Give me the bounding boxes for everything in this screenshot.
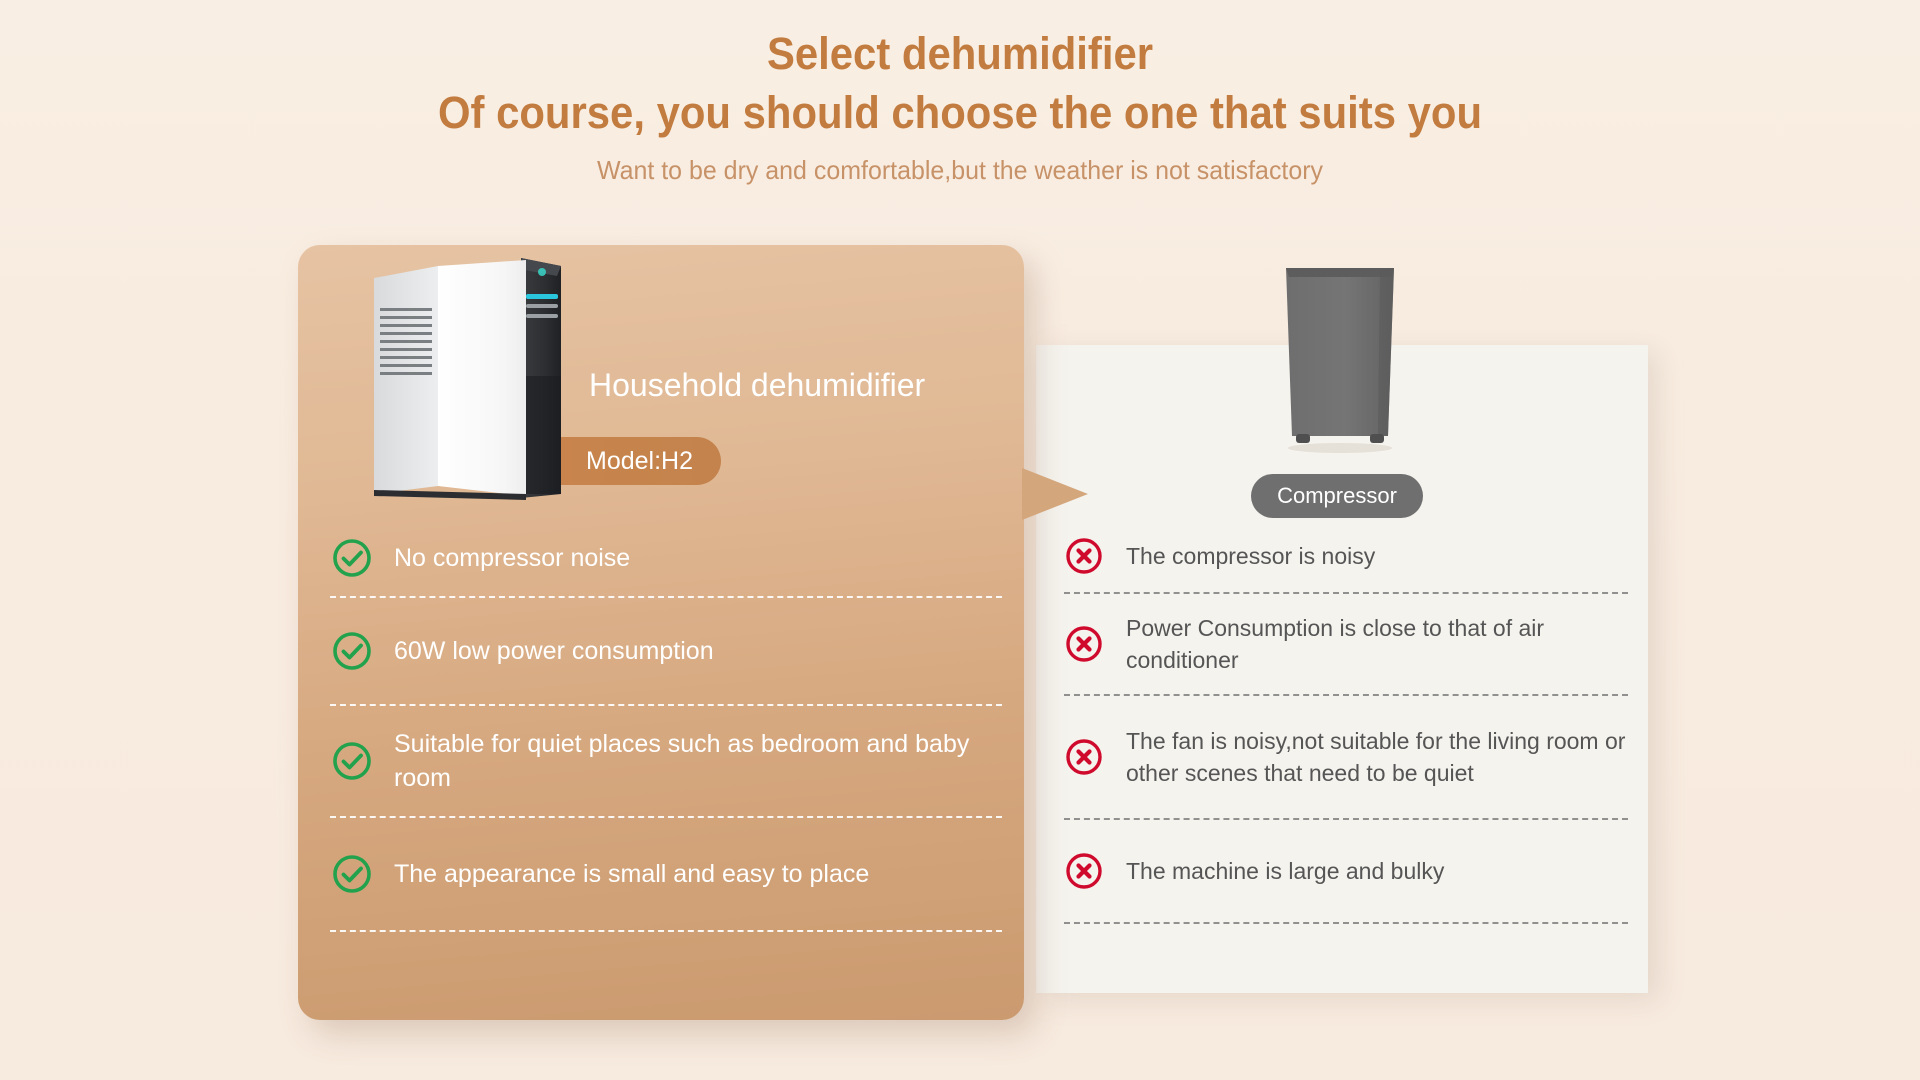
header: Select dehumidifier Of course, you shoul… <box>0 0 1920 190</box>
page-subtitle: Want to be dry and comfortable,but the w… <box>38 150 1881 190</box>
drawback-text: Power Consumption is close to that of ai… <box>1126 612 1628 676</box>
check-circle-icon <box>330 852 374 896</box>
drawback-text: The fan is noisy,not suitable for the li… <box>1126 725 1628 789</box>
list-item: The appearance is small and easy to plac… <box>330 818 1002 930</box>
feature-list: No compressor noise 60W low power consum… <box>330 520 1002 932</box>
drawback-text: The compressor is noisy <box>1126 540 1375 572</box>
page-title-line-2: Of course, you should choose the one tha… <box>67 82 1853 144</box>
list-item: The machine is large and bulky <box>1064 820 1628 922</box>
check-circle-icon <box>330 536 374 580</box>
card-pointer-tail <box>1022 468 1088 520</box>
list-divider <box>1064 818 1628 820</box>
list-divider <box>330 816 1002 818</box>
household-dehumidifier-image <box>358 246 584 502</box>
feature-text: No compressor noise <box>394 541 630 575</box>
list-divider <box>1064 922 1628 924</box>
list-item: Suitable for quiet places such as bedroo… <box>330 706 1002 816</box>
x-circle-icon <box>1064 536 1104 576</box>
x-circle-icon <box>1064 737 1104 777</box>
list-item: No compressor noise <box>330 520 1002 596</box>
list-item: 60W low power consumption <box>330 598 1002 704</box>
list-item: The compressor is noisy <box>1064 520 1628 592</box>
feature-text: The appearance is small and easy to plac… <box>394 857 869 891</box>
feature-text: 60W low power consumption <box>394 634 714 668</box>
list-item: Power Consumption is close to that of ai… <box>1064 594 1628 694</box>
list-divider <box>1064 592 1628 594</box>
feature-text: Suitable for quiet places such as bedroo… <box>394 727 1002 795</box>
compressor-unit-image <box>1272 258 1408 456</box>
list-divider <box>330 930 1002 932</box>
x-circle-icon <box>1064 624 1104 664</box>
check-circle-icon <box>330 739 374 783</box>
compressor-badge: Compressor <box>1251 474 1423 518</box>
list-divider <box>1064 694 1628 696</box>
check-circle-icon <box>330 629 374 673</box>
model-badge-label: Model:H2 <box>586 447 693 476</box>
drawback-text: The machine is large and bulky <box>1126 855 1444 887</box>
list-divider <box>330 704 1002 706</box>
page-title-line-1: Select dehumidifier <box>67 26 1853 82</box>
list-item: The fan is noisy,not suitable for the li… <box>1064 696 1628 818</box>
list-divider <box>330 596 1002 598</box>
x-circle-icon <box>1064 851 1104 891</box>
compressor-badge-label: Compressor <box>1277 483 1397 509</box>
card-title: Household dehumidifier <box>589 367 925 404</box>
drawback-list: The compressor is noisy Power Consumptio… <box>1064 520 1628 924</box>
